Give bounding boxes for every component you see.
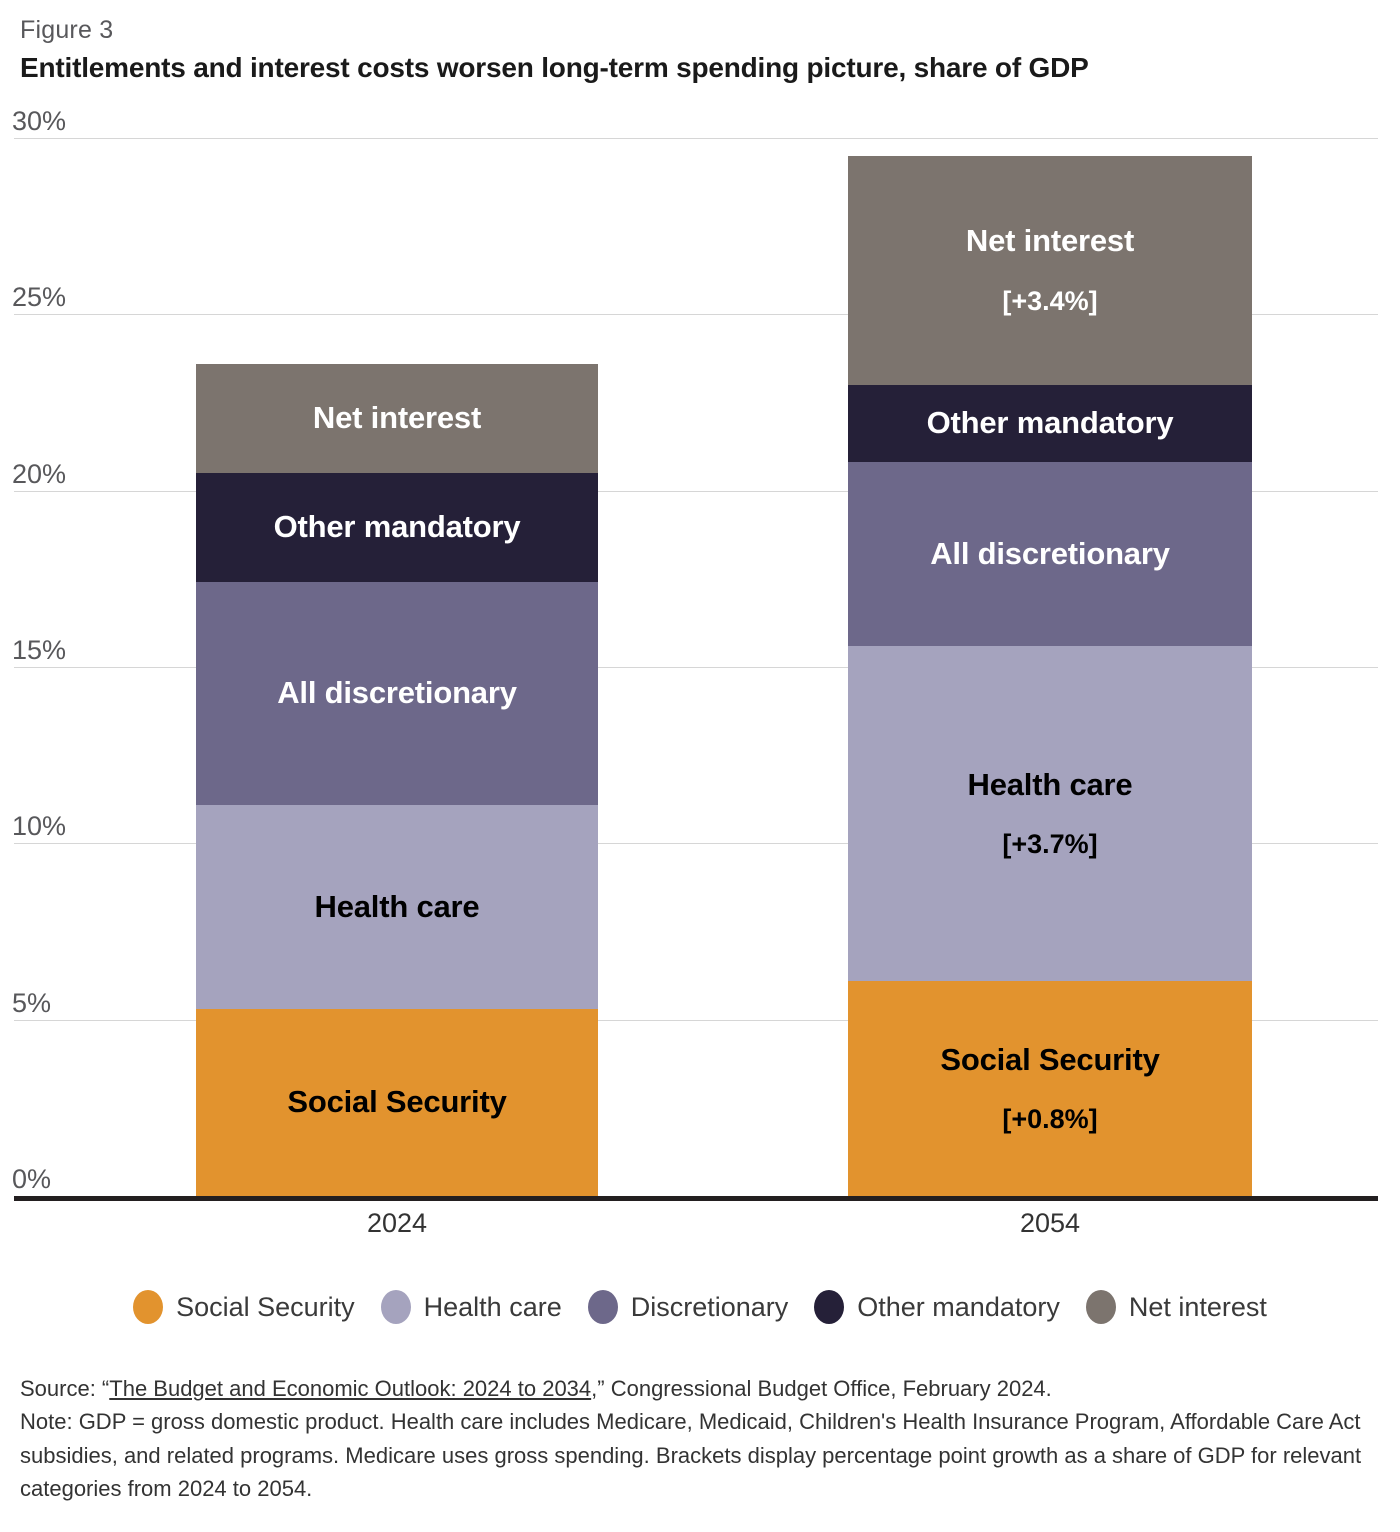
bar-segment[interactable]: All discretionary [848,462,1252,645]
bar-segment[interactable]: Net interest[+3.4%] [848,156,1252,385]
bar-segment-label: Other mandatory [927,407,1174,440]
x-axis-label-2054: 2054 [848,1208,1252,1239]
y-axis-tick-label: 25% [12,284,66,314]
bar-segment-label: Health care [968,769,1133,802]
bar-segment[interactable]: Health care [196,805,598,1010]
bar-segment-label: Social Security [940,1044,1159,1077]
stacked-bar-2024[interactable]: Net interestOther mandatoryAll discretio… [196,364,598,1196]
legend-label: Net interest [1129,1292,1267,1323]
bar-segment[interactable]: Social Security [196,1009,598,1196]
bar-segment-delta: [+3.4%] [1002,288,1097,315]
bar-segment-label: Social Security [287,1086,506,1119]
legend-swatch-icon [133,1290,163,1324]
chart-legend: Social SecurityHealth careDiscretionaryO… [0,1290,1400,1324]
bar-segment-label: Net interest [313,402,481,435]
source-prefix: Source: “ [20,1376,109,1401]
source-suffix: ,” Congressional Budget Office, February… [591,1376,1052,1401]
bar-segment-delta: [+0.8%] [1002,1106,1097,1133]
bar-segment-label: Other mandatory [274,511,521,544]
legend-swatch-icon [1086,1290,1116,1324]
legend-item[interactable]: Discretionary [588,1290,789,1324]
y-axis-tick-label: 20% [12,461,66,491]
legend-label: Discretionary [631,1292,789,1323]
legend-item[interactable]: Other mandatory [814,1290,1060,1324]
y-axis-tick-label: 30% [12,108,66,138]
gridline [14,138,1378,139]
bar-segment-label: All discretionary [277,677,517,710]
legend-swatch-icon [381,1290,411,1324]
source-link[interactable]: The Budget and Economic Outlook: 2024 to… [109,1376,591,1401]
x-axis-label-2024: 2024 [196,1208,598,1239]
bar-segment-label: All discretionary [930,538,1170,571]
legend-item[interactable]: Net interest [1086,1290,1267,1324]
legend-swatch-icon [588,1290,618,1324]
legend-label: Social Security [176,1292,355,1323]
chart-footnotes: Source: “The Budget and Economic Outlook… [20,1372,1380,1506]
chart-plot-area: 0%5%10%15%20%25%30% Net interestOther ma… [0,100,1400,1210]
source-line: Source: “The Budget and Economic Outlook… [20,1372,1380,1405]
bar-segment-delta: [+3.7%] [1002,831,1097,858]
bar-segment-label: Health care [315,891,480,924]
figure-label: Figure 3 [20,16,113,45]
bar-segment[interactable]: Net interest [196,364,598,473]
y-axis-tick-label: 0% [12,1166,51,1196]
note-line: Note: GDP = gross domestic product. Heal… [20,1405,1380,1505]
stacked-bar-2054[interactable]: Net interest[+3.4%]Other mandatoryAll di… [848,156,1252,1196]
legend-label: Other mandatory [857,1292,1060,1323]
legend-swatch-icon [814,1290,844,1324]
y-axis-tick-label: 5% [12,990,51,1020]
legend-item[interactable]: Social Security [133,1290,355,1324]
bar-segment[interactable]: All discretionary [196,582,598,804]
legend-item[interactable]: Health care [381,1290,562,1324]
bar-segment-label: Net interest [966,225,1134,258]
bar-segment[interactable]: Health care[+3.7%] [848,646,1252,981]
bar-segment[interactable]: Other mandatory [848,385,1252,463]
legend-label: Health care [424,1292,562,1323]
y-axis-tick-label: 15% [12,637,66,667]
page-title: Entitlements and interest costs worsen l… [20,52,1089,84]
bar-segment[interactable]: Social Security[+0.8%] [848,981,1252,1196]
bar-segment[interactable]: Other mandatory [196,473,598,582]
x-axis-baseline [14,1196,1378,1201]
y-axis-tick-label: 10% [12,813,66,843]
